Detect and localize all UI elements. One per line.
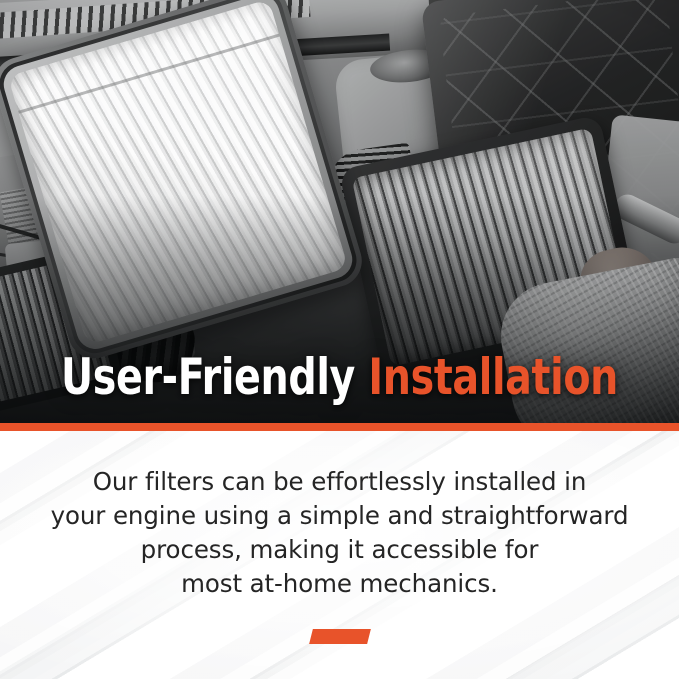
body-copy: Our filters can be effortlessly installe… <box>0 465 679 601</box>
body-copy-line: Our filters can be effortlessly installe… <box>0 465 679 499</box>
headline-accent: Installation <box>368 348 618 406</box>
orange-divider-rule <box>0 423 679 431</box>
promo-card: User-Friendly Installation Our filters c… <box>0 0 679 679</box>
hero-headline: User-Friendly Installation <box>41 352 639 402</box>
body-copy-line: process, making it accessible for <box>0 533 679 567</box>
description-panel: Our filters can be effortlessly installe… <box>0 431 679 679</box>
headline-primary: User-Friendly <box>61 348 355 406</box>
hero-photo: User-Friendly Installation <box>0 0 679 424</box>
headline-space <box>355 348 368 406</box>
body-copy-line: your engine using a simple and straightf… <box>0 499 679 533</box>
orange-parallelogram-accent <box>309 629 371 644</box>
body-copy-line: most at-home mechanics. <box>0 567 679 601</box>
